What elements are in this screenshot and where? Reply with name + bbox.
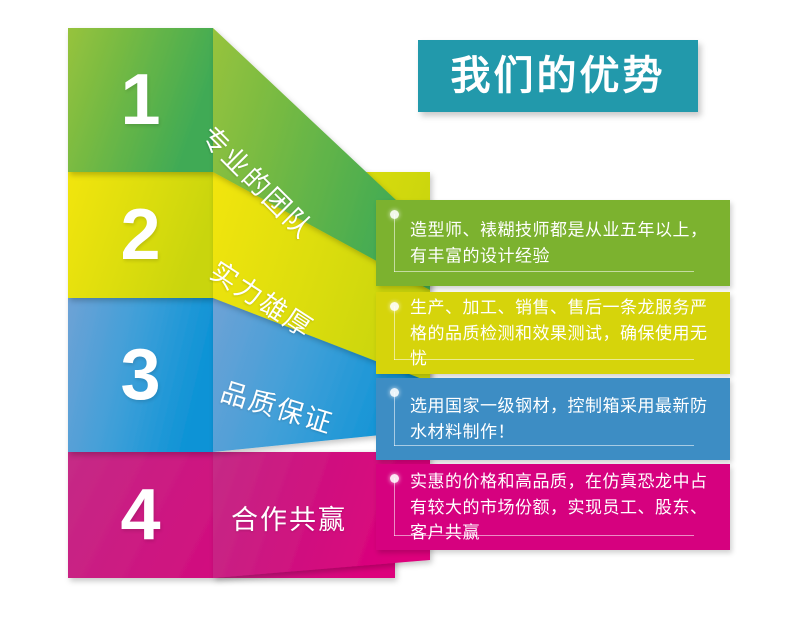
band-4-number: 4 <box>120 479 160 551</box>
content-box-2: 生产、加工、销售、售后一条龙服务严格的品质检测和效果测试，确保使用无忧 <box>376 292 730 374</box>
band-2-number-block: 2 <box>68 172 213 298</box>
band-3-label: 品质保证 <box>217 370 339 441</box>
band-3-number-block: 3 <box>68 298 213 452</box>
horizontal-rule <box>394 445 694 446</box>
band-1-number-block: 1 <box>68 28 213 172</box>
content-text-2: 生产、加工、销售、售后一条龙服务严格的品质检测和效果测试，确保使用无忧 <box>410 295 714 372</box>
content-text-1: 造型师、裱糊技师都是从业五年以上，有丰富的设计经验 <box>410 218 714 269</box>
content-box-3: 选用国家一级钢材，控制箱采用最新防水材料制作！ <box>376 378 730 460</box>
vertical-rule <box>394 392 395 446</box>
vertical-rule <box>394 214 395 272</box>
band-1-number: 1 <box>120 64 160 136</box>
band-3-number: 3 <box>120 339 160 411</box>
content-text-4: 实惠的价格和高品质，在仿真恐龙中占有较大的市场份额，实现员工、股东、客户共赢 <box>410 469 714 546</box>
title-banner: 我们的优势 <box>418 40 698 112</box>
band-2-number: 2 <box>120 199 160 271</box>
horizontal-rule <box>394 271 694 272</box>
content-box-1: 造型师、裱糊技师都是从业五年以上，有丰富的设计经验 <box>376 200 730 286</box>
content-box-4: 实惠的价格和高品质，在仿真恐龙中占有较大的市场份额，实现员工、股东、客户共赢 <box>376 464 730 550</box>
band-4-label: 合作共赢 <box>231 498 347 537</box>
content-text-3: 选用国家一级钢材，控制箱采用最新防水材料制作！ <box>410 394 714 445</box>
band-4-number-block: 4 <box>68 452 213 578</box>
infographic-canvas: 1 2 3 4 专业的团队 实力雄厚 品质保证 合作共赢 我们的优势 造型师、裱… <box>0 0 800 622</box>
vertical-rule <box>394 478 395 536</box>
page-title: 我们的优势 <box>451 56 666 96</box>
vertical-rule <box>394 306 395 360</box>
